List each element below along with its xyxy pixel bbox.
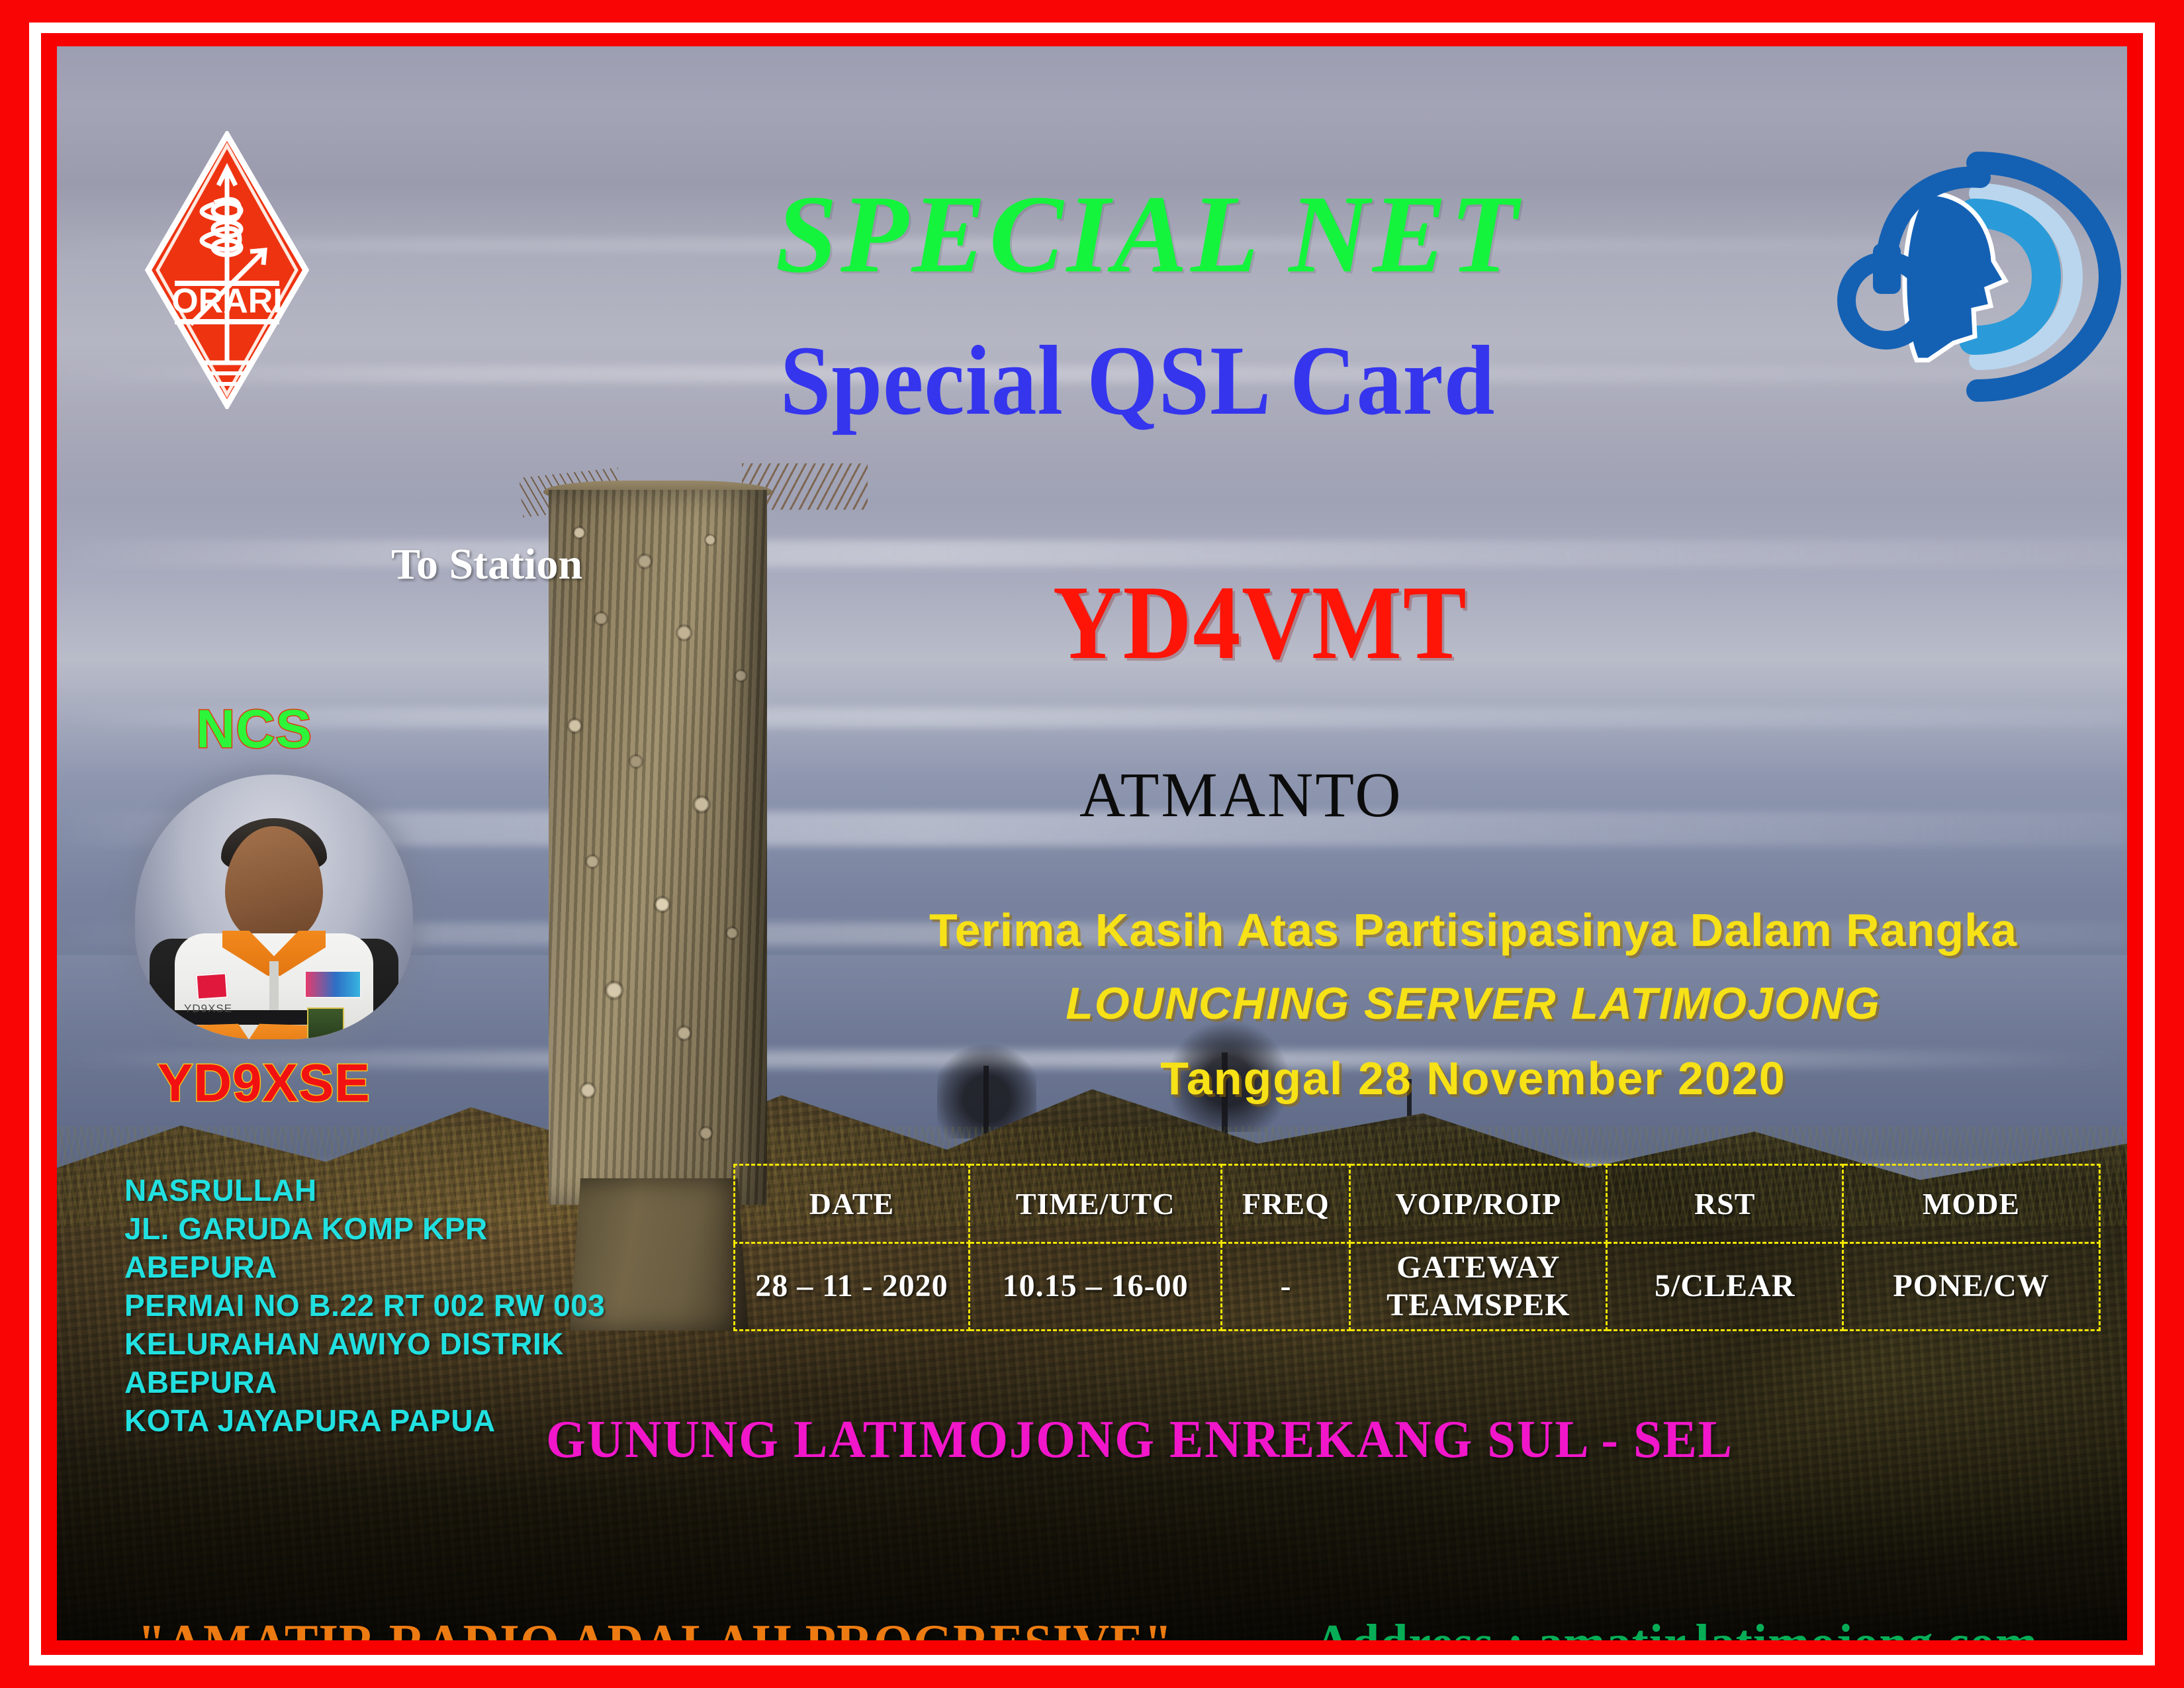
cell-voip: GATEWAY TEAMSPEK (1350, 1243, 1607, 1331)
page-subtitle: Special QSL Card (140, 331, 2044, 430)
thanks-line-3: Tanggal 28 November 2020 (838, 1055, 2109, 1102)
thanks-line-2: LOUNCHING SERVER LATIMOJONG (838, 981, 2109, 1026)
cell-time: 10.15 – 16-00 (969, 1243, 1222, 1331)
ncs-label: NCS (196, 698, 312, 761)
table-header-row: DATE TIME/UTC FREQ VOIP/ROIP RST MODE (735, 1165, 2100, 1243)
operator-name: ATMANTO (1079, 758, 1403, 831)
table-row: 28 – 11 - 2020 10.15 – 16-00 - GATEWAY T… (735, 1243, 2100, 1331)
page-title: SPECIAL NET (57, 179, 2127, 290)
thanks-message-block: Terima Kasih Atas Partisipasinya Dalam R… (838, 907, 2109, 1102)
to-station-label: To Station (391, 539, 582, 590)
column-header-time: TIME/UTC (969, 1165, 1222, 1243)
qsl-card: ORARI (0, 0, 2184, 1688)
cell-mode: PONE/CW (1843, 1243, 2100, 1331)
background-mountain-photo: ORARI (57, 46, 2127, 1640)
address-block: NASRULLAH JL. GARUDA KOMP KPR ABEPURA PE… (124, 1172, 605, 1440)
address-line: JL. GARUDA KOMP KPR (124, 1210, 605, 1248)
ncs-operator-photo: YD9XSE (135, 774, 413, 1039)
column-header-date: DATE (735, 1165, 970, 1243)
address-line: NASRULLAH (124, 1172, 605, 1210)
address-line: PERMAI NO B.22 RT 002 RW 003 (124, 1287, 605, 1325)
address-line: ABEPURA (124, 1364, 605, 1402)
cell-rst: 5/CLEAR (1607, 1243, 1843, 1331)
web-address-text: Address : amatir.latimojong.com (1314, 1614, 2038, 1640)
cell-freq: - (1222, 1243, 1350, 1331)
motto-text: "AMATIR RADIO ADALAH PROGRESIVE" (138, 1614, 1173, 1640)
location-line: GUNUNG LATIMOJONG ENREKANG SUL - SEL (99, 1410, 2086, 1470)
cell-date: 28 – 11 - 2020 (735, 1243, 970, 1331)
column-header-rst: RST (1607, 1165, 1843, 1243)
column-header-freq: FREQ (1222, 1165, 1350, 1243)
photo-shirt-callsign: YD9XSE (184, 1002, 232, 1015)
ncs-callsign: YD9XSE (158, 1053, 371, 1113)
address-line: KELURAHAN AWIYO DISTRIK (124, 1325, 605, 1364)
qso-details-table: DATE TIME/UTC FREQ VOIP/ROIP RST MODE 28… (733, 1164, 2101, 1331)
column-header-mode: MODE (1843, 1165, 2100, 1243)
photo-chest-emblem (304, 970, 361, 998)
photo-id-card (307, 1008, 344, 1039)
address-line: ABEPURA (124, 1248, 605, 1287)
photo-shoulder-patch (195, 972, 229, 1000)
thanks-line-1: Terima Kasih Atas Partisipasinya Dalam R… (838, 907, 2109, 953)
column-header-voip: VOIP/ROIP (1350, 1165, 1607, 1243)
station-callsign: YD4VMT (1053, 569, 1468, 675)
